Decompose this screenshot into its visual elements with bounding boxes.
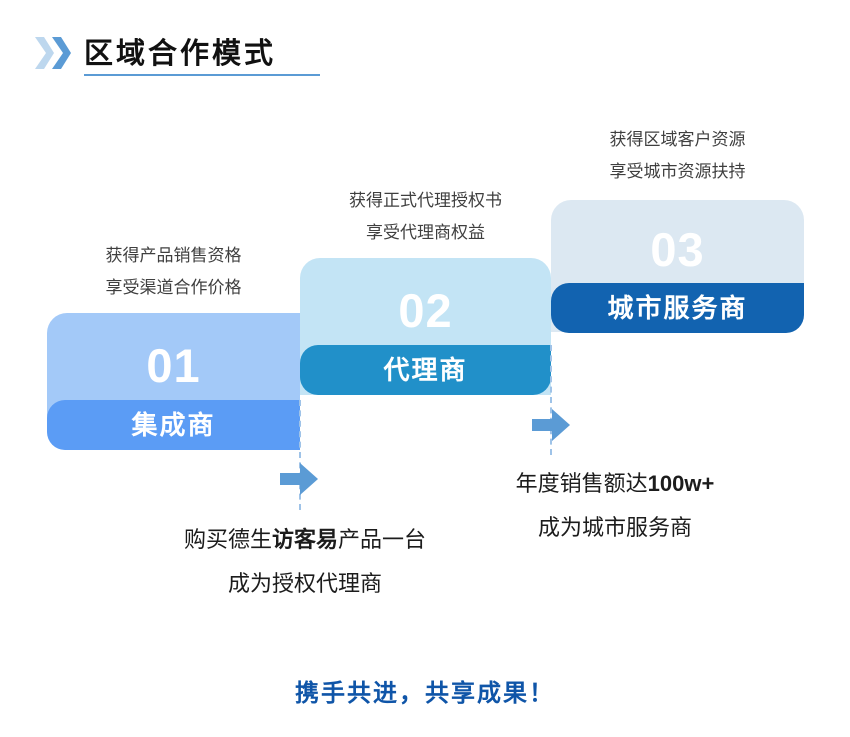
benefit-line: 享受渠道合作价格 — [47, 272, 300, 304]
step-benefits-01: 获得产品销售资格 享受渠道合作价格 — [47, 240, 300, 304]
arrow-right-icon — [280, 462, 318, 496]
step-label-02: 代理商 — [383, 357, 467, 383]
arrow-right-icon — [532, 408, 570, 442]
page-title: 区域合作模式 — [84, 40, 276, 69]
step-number-01: 01 — [47, 342, 300, 389]
requirement-emphasis: 100w+ — [648, 471, 715, 496]
requirement-note-2: 年度销售额达100w+ 成为城市服务商 — [420, 462, 810, 550]
requirement-line-2: 成为授权代理商 — [120, 562, 490, 606]
page-header: 区域合作模式 — [34, 36, 276, 76]
step-label-bar-03: 城市服务商 — [551, 283, 804, 333]
page-title-wrap: 区域合作模式 — [84, 40, 276, 76]
requirement-line-2: 成为城市服务商 — [420, 506, 810, 550]
footer-slogan: 携手共进，共享成果！ — [0, 673, 850, 708]
infographic-canvas: 区域合作模式 获得产品销售资格 享受渠道合作价格 获得正式代理授权书 享受代理商… — [0, 0, 850, 737]
requirement-prefix: 购买德生 — [184, 527, 272, 552]
chevron-right-icon — [51, 36, 71, 70]
step-card-02[interactable]: 02 代理商 — [300, 258, 551, 395]
benefit-line: 享受代理商权益 — [298, 217, 553, 249]
benefit-line: 获得正式代理授权书 — [298, 185, 553, 217]
benefit-line: 获得产品销售资格 — [47, 240, 300, 272]
step-label-bar-02: 代理商 — [300, 345, 551, 395]
step-label-01: 集成商 — [131, 412, 215, 438]
step-number-02: 02 — [300, 287, 551, 334]
step-benefits-02: 获得正式代理授权书 享受代理商权益 — [298, 185, 553, 249]
step-card-01[interactable]: 01 集成商 — [47, 313, 300, 450]
benefit-line: 获得区域客户资源 — [551, 124, 804, 156]
requirement-emphasis: 访客易 — [272, 527, 338, 552]
title-underline — [84, 74, 320, 76]
benefit-line: 享受城市资源扶持 — [551, 156, 804, 188]
requirement-suffix: 产品一台 — [338, 527, 426, 552]
requirement-prefix: 年度销售额达 — [516, 471, 648, 496]
step-label-bar-01: 集成商 — [47, 400, 300, 450]
step-number-03: 03 — [551, 226, 804, 273]
step-label-03: 城市服务商 — [607, 295, 747, 321]
step-benefits-03: 获得区域客户资源 享受城市资源扶持 — [551, 124, 804, 188]
requirement-line-1: 年度销售额达100w+ — [420, 462, 810, 506]
chevron-group — [34, 36, 68, 70]
step-card-03[interactable]: 03 城市服务商 — [551, 200, 804, 332]
